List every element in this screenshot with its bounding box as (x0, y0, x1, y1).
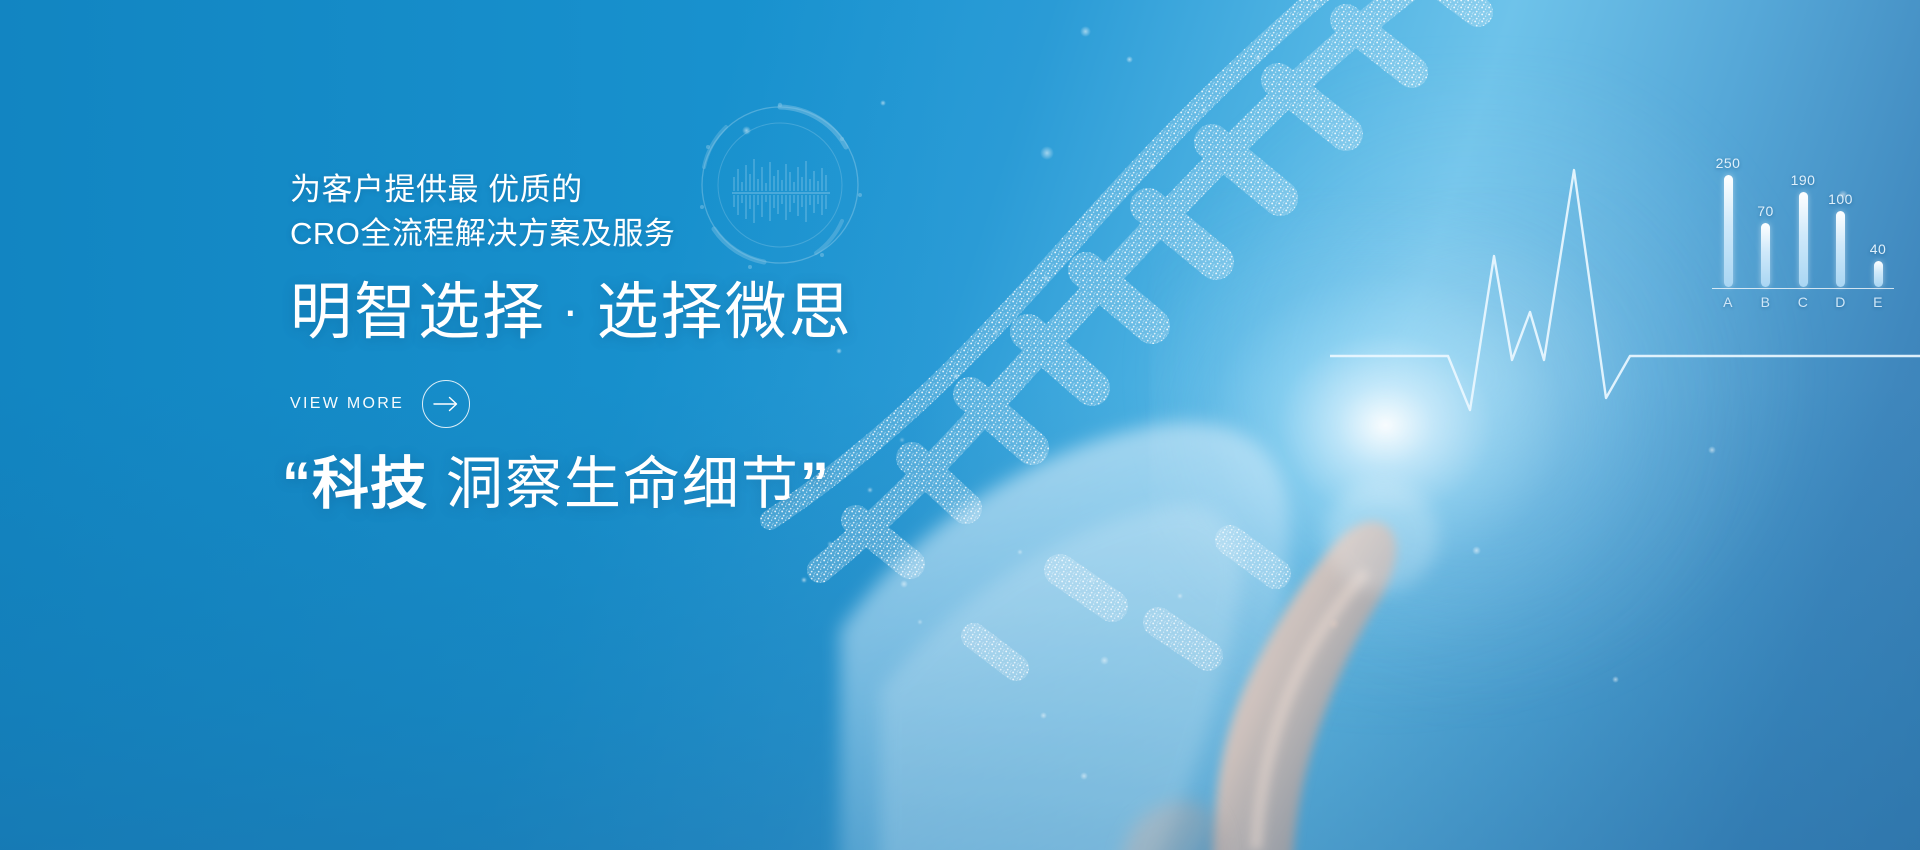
chart-category-label: D (1827, 294, 1855, 310)
quote-close-mark: ” (800, 451, 830, 516)
chart-category-label: B (1752, 294, 1780, 310)
quote-light-text: 洞察生命细节 (428, 452, 800, 516)
hero-banner: 250 70 190 100 40 A B C (0, 0, 1920, 850)
chart-value-label: 250 (1716, 156, 1741, 171)
headline-right: 选择微思 (597, 278, 853, 347)
chart-plot: 250 70 190 100 40 (1714, 152, 1892, 287)
chart-bar (1761, 223, 1770, 287)
quote-open-mark: “ (282, 451, 312, 516)
chart-category-labels: A B C D E (1714, 294, 1892, 310)
bar-chart: 250 70 190 100 40 A B C (1706, 152, 1896, 317)
hero-subtitle-line-2: CRO全流程解决方案及服务 (290, 212, 675, 256)
headline-left: 明智选择 (290, 278, 546, 347)
view-more-label: VIEW MORE (290, 395, 404, 413)
chart-axis-line (1712, 288, 1894, 289)
arrow-right-icon[interactable] (422, 380, 470, 428)
chart-value-label: 100 (1828, 192, 1853, 207)
hero-content: 为客户提供最 优质的 CRO全流程解决方案及服务 明智选择·选择微思 VIEW … (290, 0, 1290, 850)
chart-column: 250 (1714, 152, 1742, 287)
chart-bar (1724, 175, 1733, 287)
chart-value-label: 190 (1791, 173, 1816, 188)
chart-bar (1874, 261, 1883, 287)
view-more-button[interactable]: VIEW MORE (290, 380, 470, 428)
chart-category-label: C (1789, 294, 1817, 310)
chart-column: 100 (1827, 152, 1855, 287)
chart-category-label: E (1864, 294, 1892, 310)
chart-bar (1836, 211, 1845, 287)
chart-column: 70 (1752, 152, 1780, 287)
headline-separator-dot: · (546, 272, 597, 348)
hero-quote: “科技 洞察生命细节” (282, 448, 830, 520)
page-title: 明智选择·选择微思 (290, 272, 853, 351)
hero-subtitle: 为客户提供最 优质的 CRO全流程解决方案及服务 (290, 168, 675, 256)
chart-category-label: A (1714, 294, 1742, 310)
quote-strong-text: 科技 (312, 452, 428, 516)
chart-value-label: 70 (1757, 204, 1774, 219)
chart-column: 40 (1864, 152, 1892, 287)
hero-subtitle-line-1: 为客户提供最 优质的 (290, 172, 583, 207)
chart-bar (1799, 192, 1808, 287)
chart-value-label: 40 (1870, 242, 1887, 257)
chart-column: 190 (1789, 152, 1817, 287)
